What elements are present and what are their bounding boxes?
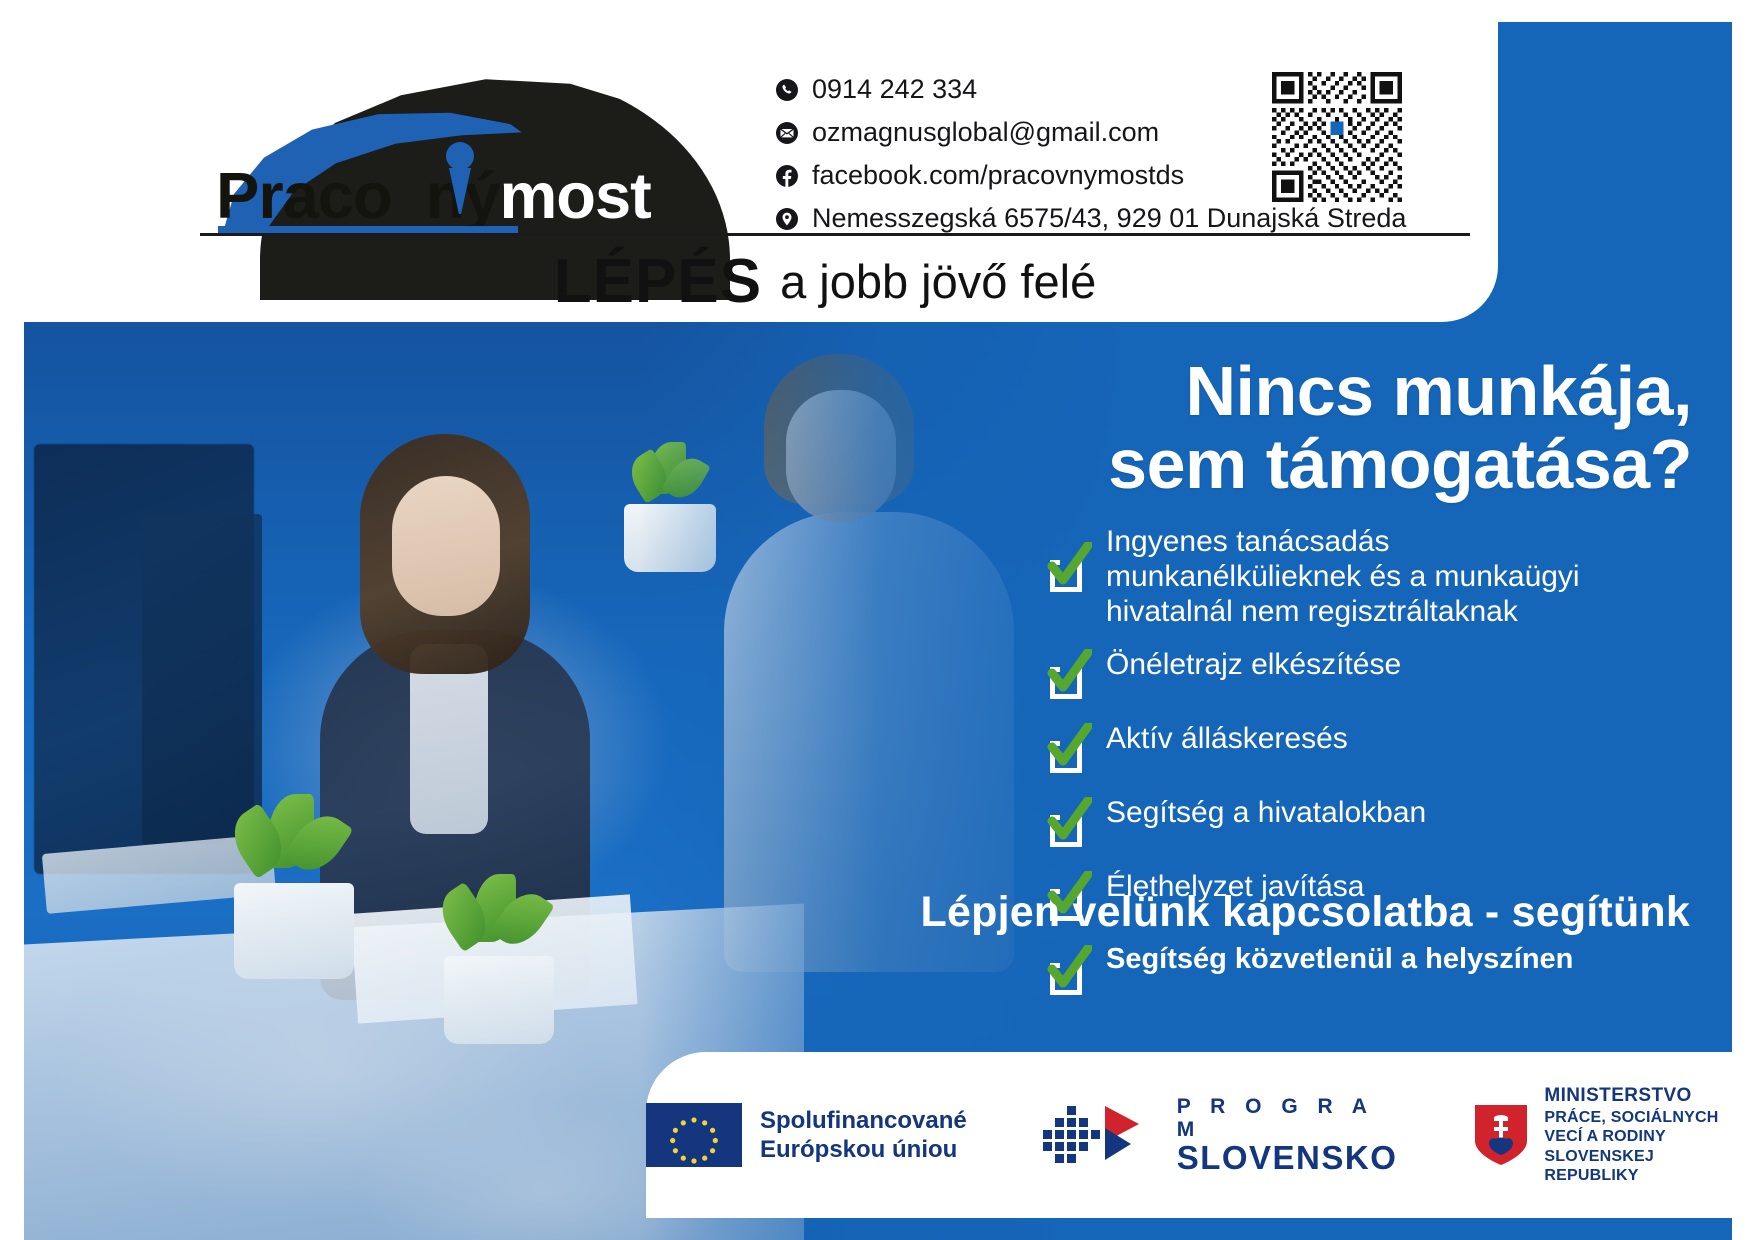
- ministry-text: MINISTERSTVO PRÁCE, SOCIÁLNYCH VECÍ A RO…: [1544, 1084, 1732, 1185]
- photo-plant-left: [234, 794, 354, 979]
- ministry-line-1: MINISTERSTVO: [1544, 1084, 1732, 1107]
- ministry-line-4: SLOVENSKEJ REPUBLIKY: [1544, 1147, 1732, 1186]
- checklist-item-label: Segítség közvetlenül a helyszínen: [1106, 939, 1573, 977]
- slovak-coat-of-arms-icon: [1473, 1103, 1529, 1167]
- checklist-item: Aktív álláskeresés: [1044, 717, 1604, 777]
- footer-logo-bar: Spolufinancované Európskou úniou: [646, 1052, 1732, 1218]
- program-slovensko-text: P R O G R A M SLOVENSKO: [1177, 1095, 1398, 1176]
- checkbox-checked-icon: [1044, 949, 1090, 999]
- logo-wordmark: Praconýmost: [216, 158, 651, 233]
- call-to-action: Lépjen velünk kapcsolatba - segítünk: [790, 888, 1690, 937]
- photo-plant-center: [444, 874, 554, 1044]
- program-line-1: P R O G R A M: [1177, 1095, 1398, 1141]
- main-headline: Nincs munkája, sem támogatása?: [812, 355, 1692, 501]
- ministry-line-2: PRÁCE, SOCIÁLNYCH: [1544, 1108, 1732, 1128]
- services-checklist: Ingyenes tanácsadás munkanélkülieknek és…: [1044, 524, 1604, 1013]
- checklist-item: Ingyenes tanácsadás munkanélkülieknek és…: [1044, 524, 1604, 629]
- contact-address-text: Nemesszegská 6575/43, 929 01 Dunajská St…: [812, 203, 1406, 234]
- location-icon: [774, 206, 800, 232]
- checkbox-checked-icon: [1044, 801, 1090, 851]
- checklist-item-label: Önéletrajz elkészítése: [1106, 643, 1401, 682]
- qr-code[interactable]: [1272, 72, 1402, 202]
- checkbox-checked-icon: [1044, 653, 1090, 703]
- checkbox-checked-icon: [1044, 546, 1090, 596]
- ministry-logo: MINISTERSTVO PRÁCE, SOCIÁLNYCH VECÍ A RO…: [1473, 1084, 1732, 1185]
- contact-address[interactable]: Nemesszegská 6575/43, 929 01 Dunajská St…: [774, 203, 1406, 234]
- facebook-icon: [774, 163, 800, 189]
- eu-cofunding-text: Spolufinancované Európskou úniou: [760, 1106, 967, 1165]
- poster-frame: Praconýmost 0914 242 334: [24, 22, 1732, 1218]
- tagline: LÉPÉS a jobb jövő felé: [200, 246, 1450, 316]
- header-divider: [200, 233, 1470, 236]
- eu-line-2: Európskou úniou: [760, 1135, 967, 1164]
- checkbox-checked-icon: [1044, 727, 1090, 777]
- contact-email-text: ozmagnusglobal@gmail.com: [812, 117, 1159, 148]
- poster: Praconýmost 0914 242 334: [0, 0, 1754, 1240]
- ministry-line-3: VECÍ A RODINY: [1544, 1127, 1732, 1147]
- program-line-2: SLOVENSKO: [1177, 1141, 1398, 1176]
- email-icon: [774, 120, 800, 146]
- headline-line-2: sem támogatása?: [812, 428, 1692, 501]
- eu-cofunding-logo: Spolufinancované Európskou úniou: [646, 1103, 967, 1167]
- header-card: Praconýmost 0914 242 334: [24, 22, 1498, 322]
- checklist-item: Önéletrajz elkészítése: [1044, 643, 1604, 703]
- tagline-emphasis: LÉPÉS: [554, 246, 762, 317]
- checklist-item-label: Ingyenes tanácsadás munkanélkülieknek és…: [1106, 524, 1604, 629]
- photo-woman-face: [392, 476, 500, 616]
- logo-person-pin-icon: [443, 142, 477, 214]
- checklist-item-label: Aktív álláskeresés: [1106, 717, 1348, 756]
- program-slovensko-mark-icon: [1043, 1104, 1161, 1166]
- company-logo: Praconýmost: [200, 50, 720, 228]
- program-slovensko-logo: P R O G R A M SLOVENSKO: [1043, 1095, 1398, 1176]
- headline-line-1: Nincs munkája,: [812, 355, 1692, 428]
- eu-flag-icon: [646, 1103, 742, 1167]
- checklist-item-label: Segítség a hivatalokban: [1106, 791, 1426, 830]
- eu-line-1: Spolufinancované: [760, 1106, 967, 1135]
- checklist-item: Segítség közvetlenül a helyszínen: [1044, 939, 1604, 999]
- checklist-item: Segítség a hivatalokban: [1044, 791, 1604, 851]
- tagline-rest: a jobb jövő felé: [780, 254, 1096, 309]
- logo-word-part1: Praco: [216, 159, 392, 232]
- contact-phone-text: 0914 242 334: [812, 74, 977, 105]
- phone-icon: [774, 77, 800, 103]
- logo-word-part3: most: [500, 159, 651, 232]
- contact-facebook-text: facebook.com/pracovnymostds: [812, 160, 1184, 191]
